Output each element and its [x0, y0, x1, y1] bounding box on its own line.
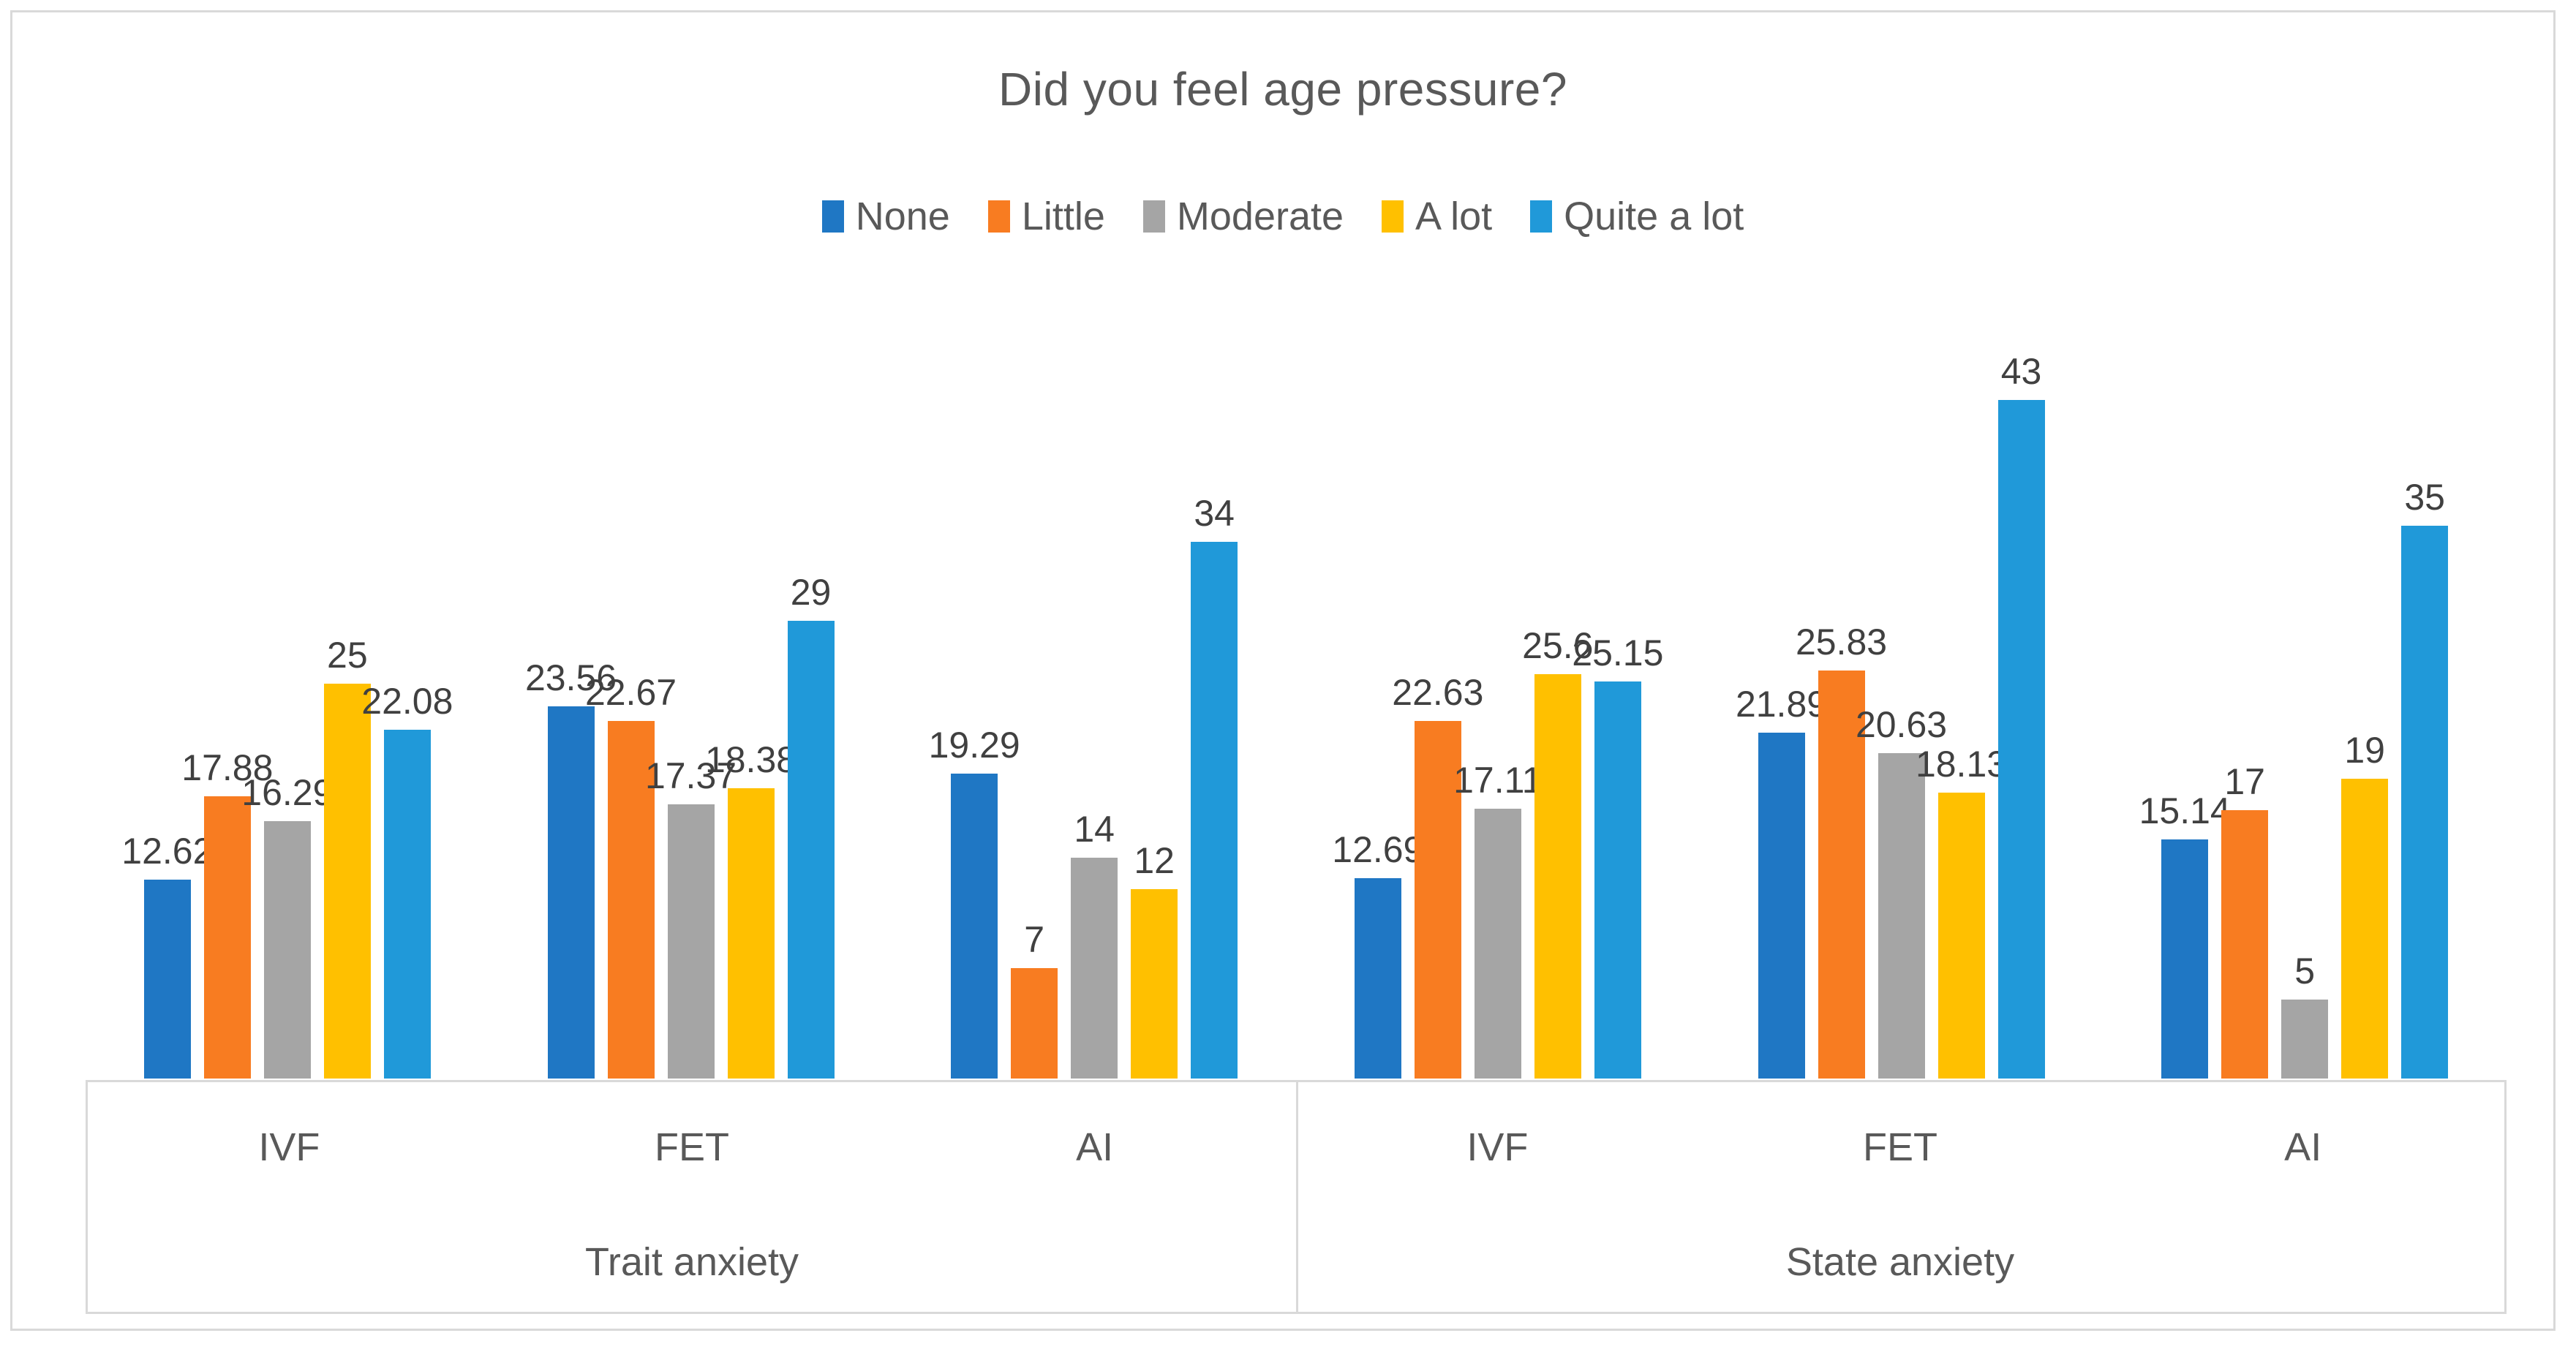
bar-slot: 35	[2401, 305, 2448, 1079]
legend-label: A lot	[1415, 197, 1492, 236]
bar-slot: 21.89	[1758, 305, 1805, 1079]
legend-item-moderate[interactable]: Moderate	[1143, 197, 1344, 236]
bar-a-lot[interactable]	[324, 684, 371, 1079]
bar-slot: 29	[788, 305, 835, 1079]
bar-quite-a-lot[interactable]	[2401, 526, 2448, 1079]
bar-value-label: 18.38	[705, 741, 796, 778]
bar-none[interactable]	[951, 774, 998, 1079]
bar-slot: 15.14	[2161, 305, 2208, 1079]
bar-value-label: 25	[327, 637, 368, 673]
bar-slot: 19	[2341, 305, 2388, 1079]
bar-slot: 34	[1191, 305, 1238, 1079]
bar-slot: 7	[1011, 305, 1058, 1079]
bar-groups: 12.6217.8816.292522.0823.5622.6717.3718.…	[86, 305, 2507, 1079]
bar-none[interactable]	[1758, 733, 1805, 1079]
legend-item-none[interactable]: None	[822, 197, 950, 236]
legend-swatch-icon	[1382, 200, 1404, 233]
axis-label-ai-2: AI	[893, 1082, 1296, 1212]
bar-slot: 17.37	[668, 305, 715, 1079]
bar-slot: 14	[1071, 305, 1118, 1079]
axis-tier-major: Trait anxietyState anxiety	[86, 1212, 2507, 1314]
bar-value-label: 18.13	[1916, 746, 2007, 782]
bar-quite-a-lot[interactable]	[384, 730, 431, 1079]
bar-slot: 5	[2281, 305, 2328, 1079]
bar-little[interactable]	[1011, 968, 1058, 1079]
bar-value-label: 5	[2294, 953, 2315, 989]
bar-little[interactable]	[2221, 810, 2268, 1079]
bar-group-ivf-0: 12.6217.8816.292522.08	[86, 305, 489, 1079]
bar-value-label: 16.29	[241, 774, 333, 811]
bar-slot: 25.6	[1534, 305, 1581, 1079]
bar-value-label: 22.63	[1392, 674, 1483, 711]
bar-value-label: 12.62	[121, 833, 213, 869]
legend-label: Quite a lot	[1564, 197, 1744, 236]
bar-moderate[interactable]	[264, 821, 311, 1079]
bar-slot: 22.08	[384, 305, 431, 1079]
bar-slot: 25.83	[1818, 305, 1865, 1079]
bar-slot: 17.11	[1475, 305, 1521, 1079]
bar-none[interactable]	[1355, 878, 1401, 1079]
bar-none[interactable]	[144, 880, 191, 1079]
chart-title: Did you feel age pressure?	[12, 62, 2553, 116]
bar-a-lot[interactable]	[1534, 674, 1581, 1079]
bar-slot: 12.62	[144, 305, 191, 1079]
bar-moderate[interactable]	[1475, 809, 1521, 1079]
bar-slot: 16.29	[264, 305, 311, 1079]
bar-a-lot[interactable]	[728, 788, 775, 1079]
bar-quite-a-lot[interactable]	[788, 621, 835, 1079]
bar-moderate[interactable]	[668, 804, 715, 1079]
legend-label: None	[856, 197, 950, 236]
bar-quite-a-lot[interactable]	[1998, 400, 2045, 1079]
bar-value-label: 43	[2001, 353, 2042, 390]
bar-value-label: 12.69	[1332, 831, 1423, 868]
legend-swatch-icon	[822, 200, 844, 233]
plot-area: 12.6217.8816.292522.0823.5622.6717.3718.…	[86, 305, 2507, 1079]
bar-none[interactable]	[2161, 839, 2208, 1079]
legend-item-quite-a-lot[interactable]: Quite a lot	[1530, 197, 1744, 236]
bar-group-ai-0: 19.297141234	[892, 305, 1296, 1079]
axis-label-fet-4: FET	[1699, 1082, 2102, 1212]
chart-container: Did you feel age pressure? NoneLittleMod…	[10, 10, 2556, 1331]
axis-label-ivf-3: IVF	[1296, 1082, 1699, 1212]
bar-value-label: 35	[2404, 479, 2445, 516]
bar-moderate[interactable]	[2281, 1000, 2328, 1079]
bar-value-label: 14	[1074, 811, 1115, 847]
bar-slot: 20.63	[1878, 305, 1925, 1079]
bar-value-label: 22.08	[361, 683, 453, 720]
bar-value-label: 12	[1134, 842, 1175, 879]
legend-swatch-icon	[1143, 200, 1165, 233]
bar-value-label: 7	[1024, 921, 1044, 958]
bar-value-label: 25.15	[1572, 635, 1663, 671]
bar-a-lot[interactable]	[1938, 793, 1985, 1079]
bar-a-lot[interactable]	[1131, 889, 1178, 1079]
bar-slot: 22.63	[1415, 305, 1461, 1079]
legend-label: Moderate	[1177, 197, 1344, 236]
bar-group-ivf-1: 12.6922.6317.1125.625.15	[1296, 305, 1700, 1079]
bar-a-lot[interactable]	[2341, 779, 2388, 1079]
axis-label-ai-5: AI	[2101, 1082, 2504, 1212]
legend-label: Little	[1022, 197, 1105, 236]
legend-item-little[interactable]: Little	[988, 197, 1105, 236]
bar-moderate[interactable]	[1878, 753, 1925, 1079]
bar-value-label: 15.14	[2139, 793, 2231, 829]
chart-legend: NoneLittleModerateA lotQuite a lot	[12, 197, 2553, 236]
legend-item-a-lot[interactable]: A lot	[1382, 197, 1492, 236]
major-group-trait-anxiety: 12.6217.8816.292522.0823.5622.6717.3718.…	[86, 305, 1296, 1079]
bar-slot: 12	[1131, 305, 1178, 1079]
axis-group-label-trait-anxiety: Trait anxiety	[88, 1212, 1296, 1312]
bar-value-label: 19	[2344, 732, 2385, 768]
bar-value-label: 20.63	[1856, 706, 1947, 743]
bar-slot: 17.88	[204, 305, 251, 1079]
axis-tier-minor: IVFFETAIIVFFETAI	[86, 1080, 2507, 1212]
axis-group-label-state-anxiety: State anxiety	[1296, 1212, 2504, 1312]
bar-slot: 19.29	[951, 305, 998, 1079]
major-group-state-anxiety: 12.6922.6317.1125.625.1521.8925.8320.631…	[1296, 305, 2507, 1079]
bar-value-label: 25.83	[1796, 624, 1887, 660]
bar-slot: 17	[2221, 305, 2268, 1079]
bar-little[interactable]	[204, 796, 251, 1079]
bar-value-label: 34	[1194, 495, 1235, 532]
bar-moderate[interactable]	[1071, 858, 1118, 1079]
bar-group-fet-0: 23.5622.6717.3718.3829	[489, 305, 893, 1079]
legend-swatch-icon	[988, 200, 1010, 233]
bar-value-label: 29	[791, 574, 832, 611]
bar-slot: 22.67	[608, 305, 655, 1079]
axis-label-ivf-0: IVF	[88, 1082, 491, 1212]
category-axis: IVFFETAIIVFFETAI Trait anxietyState anxi…	[86, 1080, 2507, 1314]
bar-group-fet-1: 21.8925.8320.6318.1343	[1700, 305, 2104, 1079]
axis-label-fet-1: FET	[491, 1082, 894, 1212]
bar-value-label: 21.89	[1736, 686, 1827, 722]
legend-swatch-icon	[1530, 200, 1552, 233]
bar-none[interactable]	[548, 706, 595, 1079]
bar-quite-a-lot[interactable]	[1594, 681, 1641, 1079]
bar-group-ai-1: 15.141751935	[2103, 305, 2507, 1079]
bar-slot: 43	[1998, 305, 2045, 1079]
bar-slot: 18.13	[1938, 305, 1985, 1079]
bar-value-label: 22.67	[585, 674, 677, 711]
bar-slot: 18.38	[728, 305, 775, 1079]
bar-value-label: 17	[2224, 763, 2265, 800]
bar-slot: 25.15	[1594, 305, 1641, 1079]
bar-value-label: 17.11	[1453, 762, 1542, 798]
bar-value-label: 19.29	[929, 727, 1020, 763]
bar-quite-a-lot[interactable]	[1191, 542, 1238, 1079]
